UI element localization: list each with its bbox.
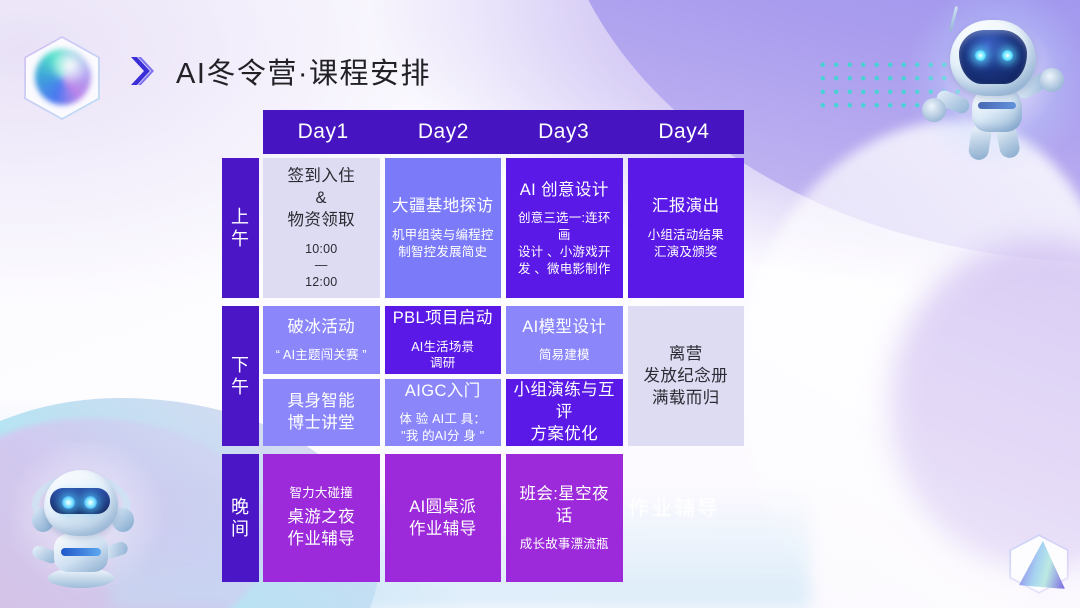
table-row-afternoon: 下午 破冰活动“ AI主题闯关赛 ”具身智能博士讲堂PBL项目启动AI生活场景调… bbox=[222, 306, 744, 446]
robot-mascot-standing-icon bbox=[20, 452, 152, 600]
schedule-column: 签到入住&物资领取10:00—12:00 bbox=[263, 158, 380, 298]
schedule-column: AI 创意设计创意三选一:连环画设计 、小游戏开发 、微电影制作 bbox=[506, 158, 623, 298]
day-header-3: Day3 bbox=[504, 120, 624, 144]
schedule-cell[interactable]: 大疆基地探访机甲组装与编程控制智控发展简史 bbox=[385, 158, 502, 298]
schedule-cell[interactable]: 签到入住&物资领取10:00—12:00 bbox=[263, 158, 380, 298]
afternoon-cells: 破冰活动“ AI主题闯关赛 ”具身智能博士讲堂PBL项目启动AI生活场景调研AI… bbox=[263, 306, 744, 446]
schedule-column: 班会:星空夜话成长故事漂流瓶 bbox=[506, 454, 623, 582]
schedule-column: 汇报演出小组活动结果汇演及颁奖 bbox=[628, 158, 745, 298]
schedule-cell[interactable]: 破冰活动“ AI主题闯关赛 ” bbox=[263, 306, 380, 374]
cell-title: 具身智能博士讲堂 bbox=[287, 390, 355, 435]
table-header-row: Day1 Day2 Day3 Day4 bbox=[263, 110, 744, 154]
cell-title: 签到入住&物资领取 bbox=[287, 165, 355, 232]
schedule-column: 大疆基地探访机甲组装与编程控制智控发展简史 bbox=[385, 158, 502, 298]
table-row-evening: 晚间 智力大碰撞桌游之夜作业辅导AI圆桌派作业辅导班会:星空夜话成长故事漂流瓶 bbox=[222, 454, 744, 582]
row-label-evening: 晚间 bbox=[222, 454, 259, 582]
day-header-4: Day4 bbox=[624, 120, 744, 144]
cell-subtitle: 机甲组装与编程控制智控发展简史 bbox=[392, 227, 494, 261]
cell-subtitle: 成长故事漂流瓶 bbox=[520, 536, 609, 553]
schedule-column: 破冰活动“ AI主题闯关赛 ”具身智能博士讲堂 bbox=[263, 306, 380, 446]
cell-title: AI 创意设计 bbox=[520, 179, 609, 201]
schedule-cell[interactable]: 具身智能博士讲堂 bbox=[263, 379, 380, 447]
row-label-afternoon: 下午 bbox=[222, 306, 259, 446]
schedule-column: AI圆桌派作业辅导 bbox=[385, 454, 502, 582]
schedule-cell[interactable]: AI圆桌派作业辅导 bbox=[385, 454, 502, 582]
page-header: AI冬令营·课程安排 bbox=[128, 50, 431, 92]
cell-title: 汇报演出 bbox=[652, 195, 720, 217]
cell-subtitle: 小组活动结果汇演及颁奖 bbox=[648, 227, 724, 261]
cell-title: 班会:星空夜话 bbox=[512, 483, 617, 528]
cell-subtitle: 智力大碰撞 bbox=[289, 485, 353, 502]
cell-subtitle: “ AI主题闯关赛 ” bbox=[276, 347, 367, 364]
cell-title: 桌游之夜作业辅导 bbox=[287, 506, 355, 551]
cell-title: PBL项目启动 bbox=[393, 307, 493, 329]
schedule-cell[interactable]: 汇报演出小组活动结果汇演及颁奖 bbox=[628, 158, 745, 298]
crystal-pyramid-ornament-icon bbox=[1006, 527, 1076, 601]
double-chevron-right-icon bbox=[128, 54, 154, 88]
cell-title: 破冰活动 bbox=[287, 316, 355, 338]
day-header-2: Day2 bbox=[383, 120, 503, 144]
schedule-column: AI模型设计简易建模小组演练与互评方案优化 bbox=[506, 306, 623, 446]
schedule-cell[interactable]: AI模型设计简易建模 bbox=[506, 306, 623, 374]
cell-title: AIGC入门 bbox=[405, 380, 481, 402]
cell-subtitle: 简易建模 bbox=[539, 347, 590, 364]
schedule-cell[interactable]: AI 创意设计创意三选一:连环画设计 、小游戏开发 、微电影制作 bbox=[506, 158, 623, 298]
cell-title: 离营发放纪念册满载而归 bbox=[644, 343, 729, 410]
hexagon-sphere-ornament-icon bbox=[20, 36, 104, 120]
day-header-1: Day1 bbox=[263, 120, 383, 144]
schedule-cell[interactable]: AIGC入门体 验 AI工 具："我 的AI分 身 " bbox=[385, 379, 502, 447]
morning-cells: 签到入住&物资领取10:00—12:00大疆基地探访机甲组装与编程控制智控发展简… bbox=[263, 158, 744, 298]
cell-title: AI圆桌派作业辅导 bbox=[409, 496, 477, 541]
slide-canvas: AI冬令营·课程安排 Day1 Day2 Day3 Day4 上午 签到入住&物… bbox=[0, 0, 1080, 608]
schedule-cell[interactable]: 班会:星空夜话成长故事漂流瓶 bbox=[506, 454, 623, 582]
cell-subtitle: 创意三选一:连环画设计 、小游戏开发 、微电影制作 bbox=[512, 210, 617, 278]
row-label-morning: 上午 bbox=[222, 158, 259, 298]
evening-cells: 智力大碰撞桌游之夜作业辅导AI圆桌派作业辅导班会:星空夜话成长故事漂流瓶 bbox=[263, 454, 744, 582]
schedule-table: Day1 Day2 Day3 Day4 上午 签到入住&物资领取10:00—12… bbox=[222, 110, 744, 582]
robot-mascot-flying-icon bbox=[920, 6, 1070, 166]
schedule-cell[interactable] bbox=[628, 454, 745, 582]
schedule-column: 离营发放纪念册满载而归 bbox=[628, 306, 745, 446]
schedule-cell[interactable]: 离营发放纪念册满载而归 bbox=[628, 306, 745, 446]
page-title: AI冬令营·课程安排 bbox=[176, 50, 431, 92]
cell-title: AI模型设计 bbox=[522, 316, 606, 338]
cell-subtitle: 体 验 AI工 具："我 的AI分 身 " bbox=[399, 411, 486, 445]
schedule-column: PBL项目启动AI生活场景调研AIGC入门体 验 AI工 具："我 的AI分 身… bbox=[385, 306, 502, 446]
schedule-cell[interactable]: PBL项目启动AI生活场景调研 bbox=[385, 306, 502, 374]
cell-subtitle: 10:00—12:00 bbox=[305, 241, 337, 292]
cell-title: 大疆基地探访 bbox=[392, 195, 493, 217]
schedule-column bbox=[628, 454, 745, 582]
cell-title: 小组演练与互评方案优化 bbox=[512, 379, 617, 446]
schedule-column: 智力大碰撞桌游之夜作业辅导 bbox=[263, 454, 380, 582]
cell-subtitle: AI生活场景调研 bbox=[411, 339, 474, 373]
schedule-cell[interactable]: 智力大碰撞桌游之夜作业辅导 bbox=[263, 454, 380, 582]
table-row-morning: 上午 签到入住&物资领取10:00—12:00大疆基地探访机甲组装与编程控制智控… bbox=[222, 158, 744, 298]
schedule-cell[interactable]: 小组演练与互评方案优化 bbox=[506, 379, 623, 447]
